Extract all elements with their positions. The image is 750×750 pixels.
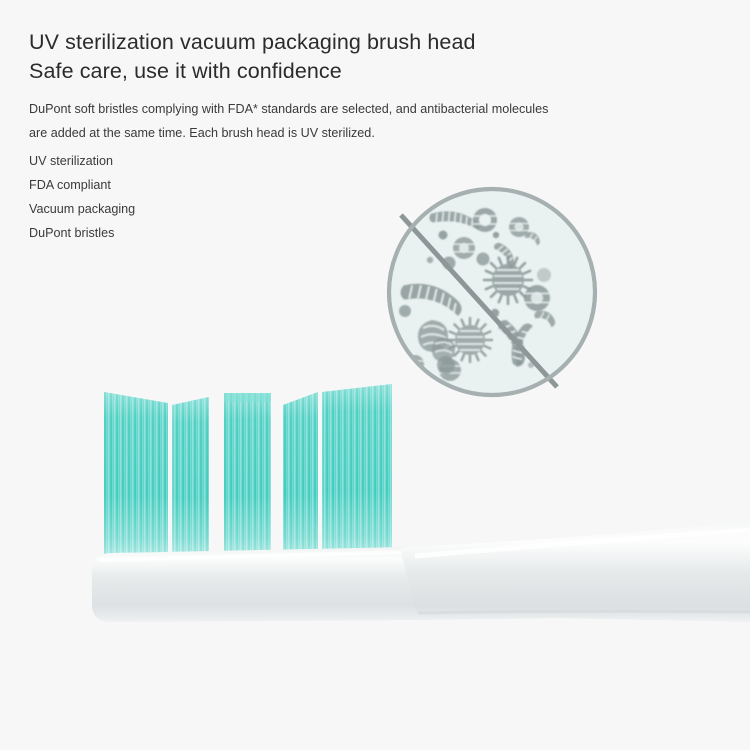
page-title-line-2: Safe care, use it with confidence xyxy=(29,57,669,86)
page-title: UV sterilization vacuum packaging brush … xyxy=(29,28,669,86)
feature-item-uv-sterilization: UV sterilization xyxy=(29,149,329,173)
bristle-tuft-2 xyxy=(172,397,209,558)
product-feature-page: UV sterilization vacuum packaging brush … xyxy=(0,0,750,750)
bristle-tuft-5 xyxy=(322,384,392,558)
description-paragraph: DuPont soft bristles complying with FDA*… xyxy=(29,97,599,145)
bristle-group xyxy=(104,384,392,558)
germ-coccus xyxy=(524,285,550,311)
brush-handle-shadow xyxy=(418,611,750,613)
brush-head xyxy=(92,547,420,622)
germ-dot xyxy=(537,268,551,282)
bristle-tuft-1 xyxy=(104,392,168,558)
page-title-line-1: UV sterilization vacuum packaging brush … xyxy=(29,28,669,57)
bristle-tuft-4 xyxy=(283,392,318,558)
feature-item-dupont-bristles: DuPont bristles xyxy=(29,221,329,245)
germ-dot xyxy=(477,253,490,266)
germ-dot xyxy=(399,305,411,317)
germ-dot xyxy=(427,257,433,263)
description-line-2: are added at the same time. Each brush h… xyxy=(29,121,599,145)
germ-dot xyxy=(439,231,448,240)
toothbrush-illustration xyxy=(0,370,750,660)
brush-handle xyxy=(400,522,750,622)
germ-coccus xyxy=(453,237,475,259)
no-germs-symbol xyxy=(385,185,599,399)
germ-coccus xyxy=(509,217,529,237)
germ-coccus xyxy=(473,208,497,232)
germ-spiky-virus xyxy=(447,317,493,363)
feature-item-fda-compliant: FDA compliant xyxy=(29,173,329,197)
bristle-tuft-3 xyxy=(224,393,271,558)
description-line-1: DuPont soft bristles complying with FDA*… xyxy=(29,97,599,121)
feature-list: UV sterilization FDA compliant Vacuum pa… xyxy=(29,149,329,245)
germ-dot xyxy=(493,232,499,238)
feature-item-vacuum-packaging: Vacuum packaging xyxy=(29,197,329,221)
